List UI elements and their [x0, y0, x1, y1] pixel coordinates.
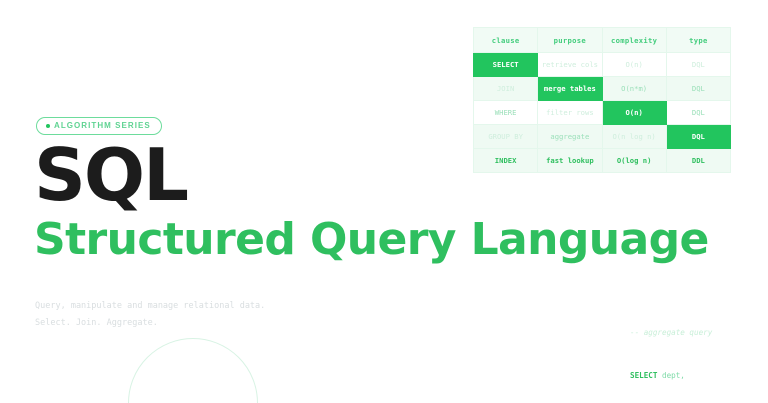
hero-description-line-2: Select. Join. Aggregate.: [35, 315, 265, 332]
table-row: INDEXfast lookupO(log n)DDL: [474, 149, 731, 173]
table-cell: O(n): [602, 101, 666, 125]
table-header-cell-type: type: [666, 28, 730, 53]
code-snippet: -- aggregate query SELECT dept, AVG(sala…: [630, 298, 726, 403]
table-row: SELECTretrieve colsO(n)DQL: [474, 53, 731, 77]
table-cell: O(n): [602, 53, 666, 77]
table-header-cell-complexity: complexity: [602, 28, 666, 53]
table-cell: O(log n): [602, 149, 666, 173]
table-cell: SELECT: [474, 53, 538, 77]
series-badge-label: ALGORITHM SERIES: [54, 122, 151, 130]
code-line-select: SELECT dept,: [630, 369, 726, 383]
code-comment-text: -- aggregate query: [630, 328, 712, 337]
clause-matrix-table: clausepurposecomplexitytype SELECTretrie…: [473, 27, 731, 173]
table-cell: WHERE: [474, 101, 538, 125]
slide-canvas: ALGORITHM SERIES SQL Structured Query La…: [0, 0, 768, 403]
table-cell: GROUP BY: [474, 125, 538, 149]
hero-description: Query, manipulate and manage relational …: [35, 298, 265, 332]
table-header-row: clausepurposecomplexitytype: [474, 28, 731, 53]
table-cell: merge tables: [538, 77, 602, 101]
table-cell: DQL: [666, 125, 730, 149]
table-cell: retrieve cols: [538, 53, 602, 77]
hero-description-line-1: Query, manipulate and manage relational …: [35, 298, 265, 315]
table-cell: filter rows: [538, 101, 602, 125]
table-cell: DDL: [666, 149, 730, 173]
table-cell: DQL: [666, 101, 730, 125]
page-title: SQL: [34, 139, 187, 211]
table-cell: INDEX: [474, 149, 538, 173]
table-cell: O(n*m): [602, 77, 666, 101]
table-cell: DQL: [666, 53, 730, 77]
decorative-circle: [128, 338, 258, 403]
table-cell: JOIN: [474, 77, 538, 101]
table-cell: fast lookup: [538, 149, 602, 173]
code-keyword-select: SELECT: [630, 371, 657, 380]
table-row: JOINmerge tablesO(n*m)DQL: [474, 77, 731, 101]
bullet-dot-icon: [46, 124, 50, 128]
page-subtitle: Structured Query Language: [34, 216, 709, 264]
table-row: GROUP BYaggregateO(n log n)DQL: [474, 125, 731, 149]
table-row: WHEREfilter rowsO(n)DQL: [474, 101, 731, 125]
code-text-select-args: dept,: [657, 371, 684, 380]
table-cell: aggregate: [538, 125, 602, 149]
table-header-cell-clause: clause: [474, 28, 538, 53]
table-cell: O(n log n): [602, 125, 666, 149]
table-header-cell-purpose: purpose: [538, 28, 602, 53]
clause-matrix-body: SELECTretrieve colsO(n)DQLJOINmerge tabl…: [474, 53, 731, 173]
table-cell: DQL: [666, 77, 730, 101]
code-line-comment-top: -- aggregate query: [630, 326, 726, 340]
clause-matrix-head: clausepurposecomplexitytype: [474, 28, 731, 53]
